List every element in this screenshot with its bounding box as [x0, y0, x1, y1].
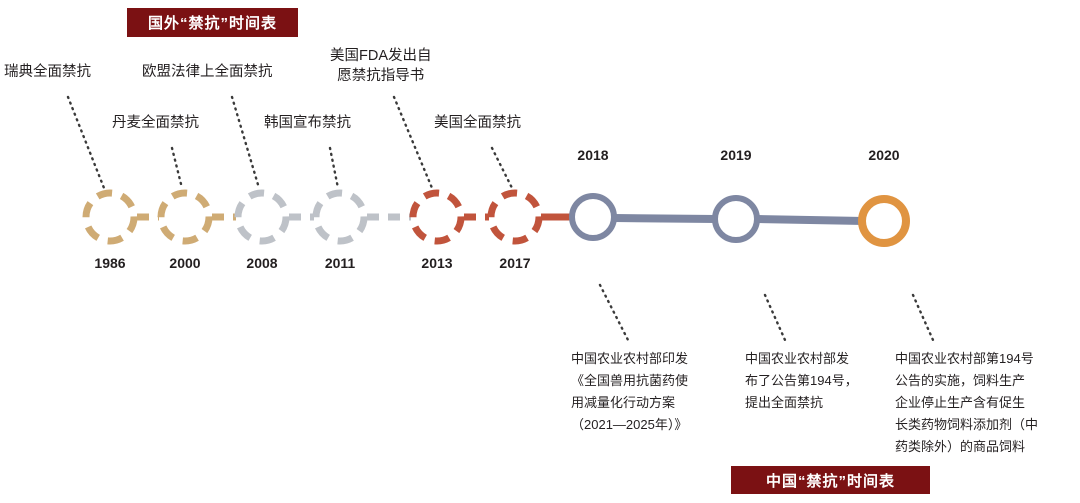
year-label-2017: 2017: [480, 255, 550, 271]
leader-2013: [394, 97, 432, 188]
event-label-2013-line2: 愿禁抗指导书: [330, 66, 432, 86]
marker-1986[interactable]: [86, 193, 134, 241]
year-label-2011: 2011: [305, 255, 375, 271]
description-2020-line3: 企业停止生产含有促生: [895, 392, 1075, 414]
description-2019: 中国农业农村部发 布了公告第194号， 提出全面禁抗: [745, 348, 885, 414]
year-label-2013: 2013: [402, 255, 472, 271]
marker-2020[interactable]: [862, 199, 906, 243]
year-label-2018: 2018: [558, 147, 628, 163]
description-2020-line2: 公告的实施，饲料生产: [895, 370, 1075, 392]
foreign-timeline-title: 国外“禁抗”时间表: [127, 8, 298, 37]
event-label-2000: 丹麦全面禁抗: [112, 113, 199, 133]
description-2020-line4: 长类药物饲料添加剂（中: [895, 414, 1075, 436]
description-2020-line5: 药类除外）的商品饲料: [895, 436, 1075, 458]
leader-2017: [492, 148, 512, 188]
marker-2000[interactable]: [161, 193, 209, 241]
year-label-2008: 2008: [227, 255, 297, 271]
event-label-2013-line1: 美国FDA发出自: [330, 46, 432, 66]
marker-2018[interactable]: [572, 196, 614, 238]
description-2019-line2: 布了公告第194号，: [745, 370, 885, 392]
description-2018: 中国农业农村部印发 《全国兽用抗菌药使 用减量化行动方案 （2021—2025年…: [571, 348, 723, 436]
description-2018-line2: 《全国兽用抗菌药使: [571, 370, 723, 392]
leader-2008: [232, 97, 259, 188]
china-timeline-title: 中国“禁抗”时间表: [731, 466, 930, 494]
leader-2011: [330, 148, 338, 188]
leader-2019: [765, 295, 785, 340]
timeline-infographic: 国外“禁抗”时间表 中国“禁抗”时间表 瑞典全面禁抗 丹麦全面禁抗 欧盟法律上全…: [0, 0, 1080, 503]
description-2019-line3: 提出全面禁抗: [745, 392, 885, 414]
marker-2011[interactable]: [316, 193, 364, 241]
description-2020: 中国农业农村部第194号 公告的实施，饲料生产 企业停止生产含有促生 长类药物饲…: [895, 348, 1075, 458]
marker-2013[interactable]: [413, 193, 461, 241]
year-label-2020: 2020: [849, 147, 919, 163]
description-2019-line1: 中国农业农村部发: [745, 348, 885, 370]
description-2018-line1: 中国农业农村部印发: [571, 348, 723, 370]
description-2018-line3: 用减量化行动方案: [571, 392, 723, 414]
event-label-2017: 美国全面禁抗: [434, 113, 521, 133]
leader-2018: [600, 285, 628, 340]
year-label-1986: 1986: [75, 255, 145, 271]
event-label-1986: 瑞典全面禁抗: [4, 62, 91, 82]
marker-2019[interactable]: [715, 198, 757, 240]
leader-2000: [172, 148, 182, 188]
description-2020-line1: 中国农业农村部第194号: [895, 348, 1075, 370]
marker-2008[interactable]: [238, 193, 286, 241]
connector-2019-2020: [757, 219, 864, 221]
marker-2017[interactable]: [491, 193, 539, 241]
event-label-2013: 美国FDA发出自 愿禁抗指导书: [330, 46, 432, 86]
event-label-2008: 欧盟法律上全面禁抗: [142, 62, 273, 82]
event-label-2011: 韩国宣布禁抗: [264, 113, 351, 133]
year-label-2000: 2000: [150, 255, 220, 271]
leader-2020: [913, 295, 933, 340]
connector-2018-2019: [614, 218, 716, 219]
year-label-2019: 2019: [701, 147, 771, 163]
leader-1986: [68, 97, 104, 188]
description-2018-line4: （2021—2025年）》: [571, 414, 723, 436]
